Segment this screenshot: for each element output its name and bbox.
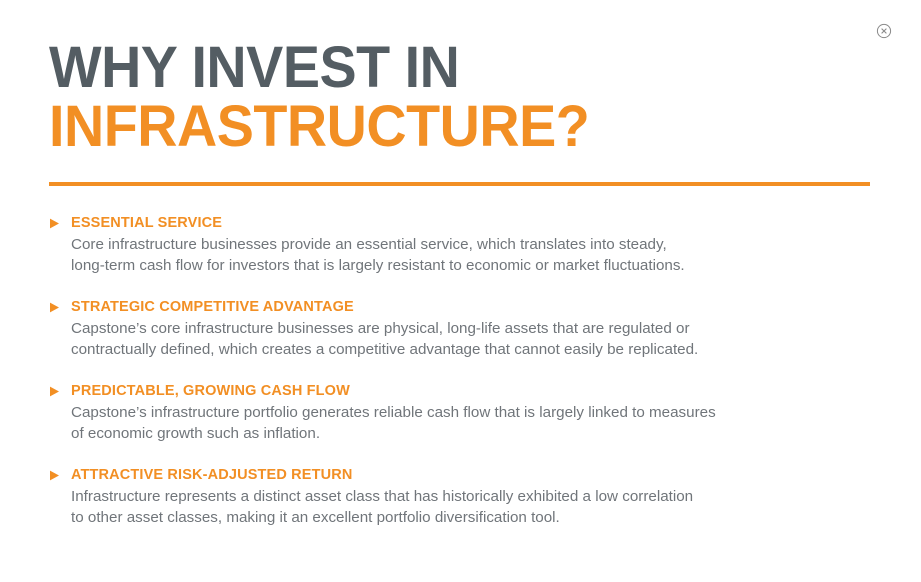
bullet-heading-row: PREDICTABLE, GROWING CASH FLOW [49,382,889,400]
list-item: PREDICTABLE, GROWING CASH FLOW Capstone’… [49,382,889,444]
triangle-right-icon [49,466,71,481]
bullet-heading-row: STRATEGIC COMPETITIVE ADVANTAGE [49,298,889,316]
bullet-body-line: to other asset classes, making it an exc… [71,507,889,528]
bullet-heading: STRATEGIC COMPETITIVE ADVANTAGE [71,298,354,316]
bullet-list: ESSENTIAL SERVICE Core infrastructure bu… [49,214,889,528]
page-title-line-1: WHY INVEST IN [49,38,846,97]
list-item: ESSENTIAL SERVICE Core infrastructure bu… [49,214,889,276]
list-item: STRATEGIC COMPETITIVE ADVANTAGE Capstone… [49,298,889,360]
bullet-body-line: Capstone’s core infrastructure businesse… [71,318,889,339]
bullet-heading: ATTRACTIVE RISK-ADJUSTED RETURN [71,466,353,484]
bullet-body-line: long-term cash flow for investors that i… [71,255,889,276]
bullet-heading: PREDICTABLE, GROWING CASH FLOW [71,382,350,400]
bullet-heading: ESSENTIAL SERVICE [71,214,222,232]
bullet-body-line: Core infrastructure businesses provide a… [71,234,889,255]
bullet-body-line: Infrastructure represents a distinct ass… [71,486,889,507]
page-title-line-2: INFRASTRUCTURE? [49,97,846,156]
triangle-right-icon [49,214,71,229]
triangle-right-icon [49,298,71,313]
bullet-heading-row: ESSENTIAL SERVICE [49,214,889,232]
triangle-right-icon [49,382,71,397]
bullet-heading-row: ATTRACTIVE RISK-ADJUSTED RETURN [49,466,889,484]
close-circle-icon [876,23,892,39]
bullet-body: Core infrastructure businesses provide a… [71,234,889,276]
bullet-body-line: contractually defined, which creates a c… [71,339,889,360]
bullet-body-line: of economic growth such as inflation. [71,423,889,444]
slide-root: WHY INVEST IN INFRASTRUCTURE? ESSENTIAL … [0,0,921,582]
page-title: WHY INVEST IN INFRASTRUCTURE? [49,38,879,156]
bullet-body: Capstone’s core infrastructure businesse… [71,318,889,360]
bullet-body-line: Capstone’s infrastructure portfolio gene… [71,402,889,423]
bullet-body: Infrastructure represents a distinct ass… [71,486,889,528]
list-item: ATTRACTIVE RISK-ADJUSTED RETURN Infrastr… [49,466,889,528]
title-divider-rule [49,182,870,186]
bullet-body: Capstone’s infrastructure portfolio gene… [71,402,889,444]
